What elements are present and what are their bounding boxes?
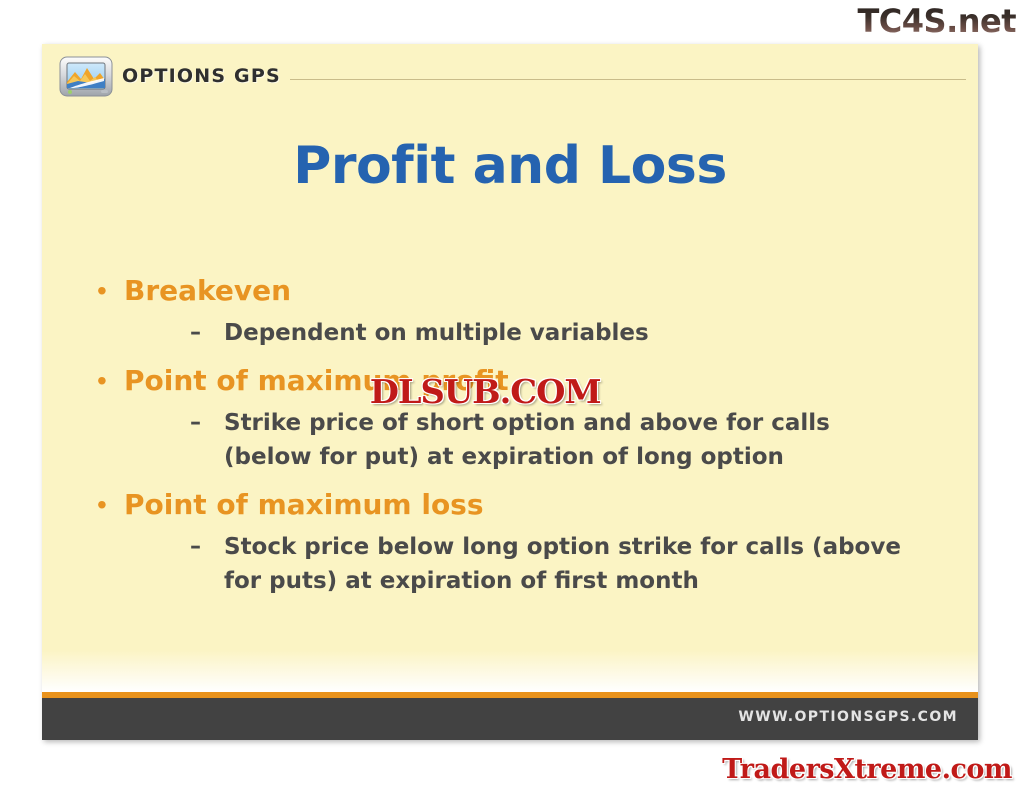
bullet-marker-icon: •	[94, 486, 124, 524]
bullet-text: Point of maximum loss	[124, 486, 484, 524]
tc4s-brand-label: TC4S.net	[857, 2, 1016, 40]
slide-footer: WWW.OPTIONSGPS.COM	[42, 698, 978, 740]
dash-marker-icon: –	[190, 316, 224, 350]
sub-bullet-text: Stock price below long option strike for…	[224, 530, 924, 598]
dash-marker-icon: –	[190, 406, 224, 440]
options-gps-wordmark: OPTIONS GPS	[122, 65, 281, 87]
bullet-text: Breakeven	[124, 272, 291, 310]
bullet-marker-icon: •	[94, 362, 124, 400]
sub-bullet-item: – Dependent on multiple variables	[190, 316, 952, 350]
slide-header: OPTIONS GPS	[42, 44, 978, 106]
footer-url-label: WWW.OPTIONSGPS.COM	[738, 709, 958, 725]
dlsub-watermark: DLSUB.COM	[370, 372, 601, 411]
sub-bullet-text: Strike price of short option and above f…	[224, 406, 924, 474]
sub-bullet-item: – Strike price of short option and above…	[190, 406, 952, 474]
footer-fade	[42, 650, 978, 692]
dash-marker-icon: –	[190, 530, 224, 564]
tradersxtreme-watermark: TradersXtreme.com	[722, 754, 1012, 785]
bullet-list: • Breakeven – Dependent on multiple vari…	[94, 272, 952, 610]
bullet-item: • Breakeven	[94, 272, 952, 310]
sub-bullet-text: Dependent on multiple variables	[224, 316, 649, 350]
page-title: Profit and Loss	[42, 136, 978, 196]
bullet-group: • Point of maximum loss – Stock price be…	[94, 486, 952, 598]
gps-device-icon	[58, 54, 116, 100]
bullet-item: • Point of maximum loss	[94, 486, 952, 524]
bullet-marker-icon: •	[94, 272, 124, 310]
bullet-group: • Breakeven – Dependent on multiple vari…	[94, 272, 952, 350]
header-divider	[290, 79, 966, 80]
sub-bullet-item: – Stock price below long option strike f…	[190, 530, 952, 598]
